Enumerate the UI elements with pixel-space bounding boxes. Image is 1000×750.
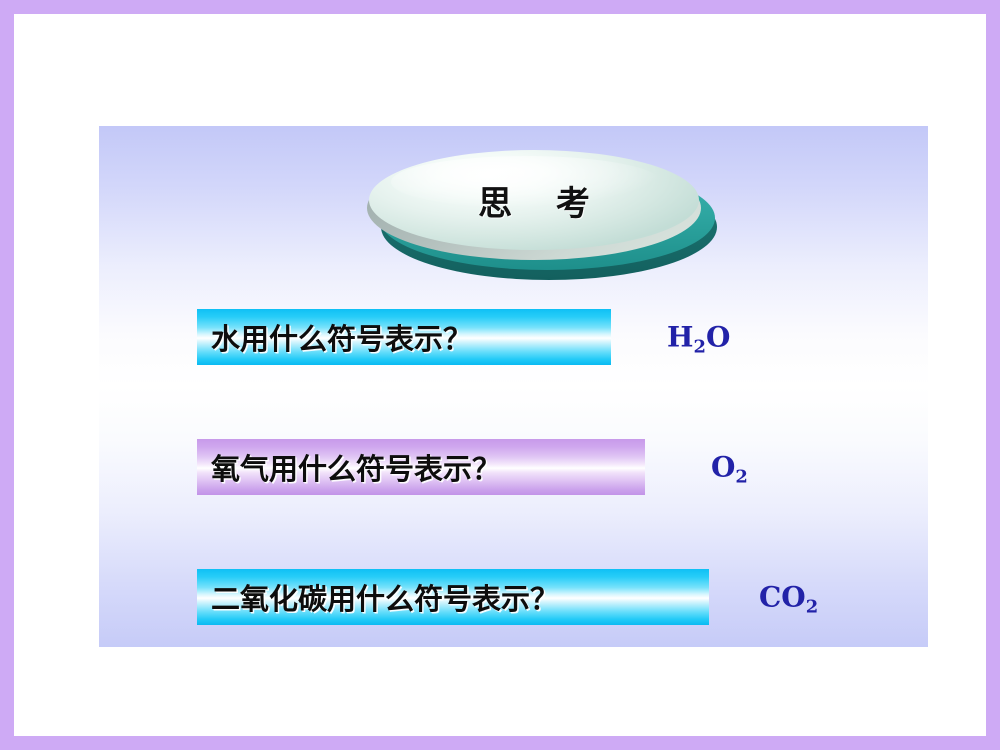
title-ellipse-button[interactable]: 思 考 bbox=[361, 148, 721, 283]
question-bar-oxygen[interactable]: 氧气用什么符号表示？ bbox=[197, 439, 645, 495]
slide-outer-frame: 思 考 水用什么符号表示？ H2O 氧气用什么符号表示？ O2 二氧化碳用什么符… bbox=[0, 0, 1000, 750]
formula-part-subscript: 2 bbox=[693, 336, 705, 357]
answer-formula-oxygen: O2 bbox=[711, 451, 748, 484]
answer-formula-water: H2O bbox=[667, 321, 730, 354]
question-bar-carbon-dioxide[interactable]: 二氧化碳用什么符号表示？ bbox=[197, 569, 709, 625]
question-row: 氧气用什么符号表示？ O2 bbox=[99, 439, 928, 495]
formula-part-main-2: O bbox=[706, 321, 730, 354]
slide-content-panel: 思 考 水用什么符号表示？ H2O 氧气用什么符号表示？ O2 二氧化碳用什么符… bbox=[99, 126, 928, 647]
question-row: 二氧化碳用什么符号表示？ CO2 bbox=[99, 569, 928, 625]
question-text: 水用什么符号表示？ bbox=[197, 316, 472, 358]
slide-page: 思 考 水用什么符号表示？ H2O 氧气用什么符号表示？ O2 二氧化碳用什么符… bbox=[14, 14, 986, 736]
question-bar-water[interactable]: 水用什么符号表示？ bbox=[197, 309, 611, 365]
answer-formula-carbon-dioxide: CO2 bbox=[759, 581, 818, 614]
formula-part-main: O bbox=[711, 451, 735, 484]
question-text: 氧气用什么符号表示？ bbox=[197, 446, 501, 488]
page-title: 思 考 bbox=[369, 150, 699, 250]
formula-part-main: H bbox=[667, 321, 693, 354]
question-text: 二氧化碳用什么符号表示？ bbox=[197, 576, 559, 618]
question-row: 水用什么符号表示？ H2O bbox=[99, 309, 928, 365]
formula-part-subscript: 2 bbox=[735, 466, 747, 487]
formula-part-main: CO bbox=[759, 581, 806, 614]
formula-part-subscript: 2 bbox=[806, 596, 818, 617]
